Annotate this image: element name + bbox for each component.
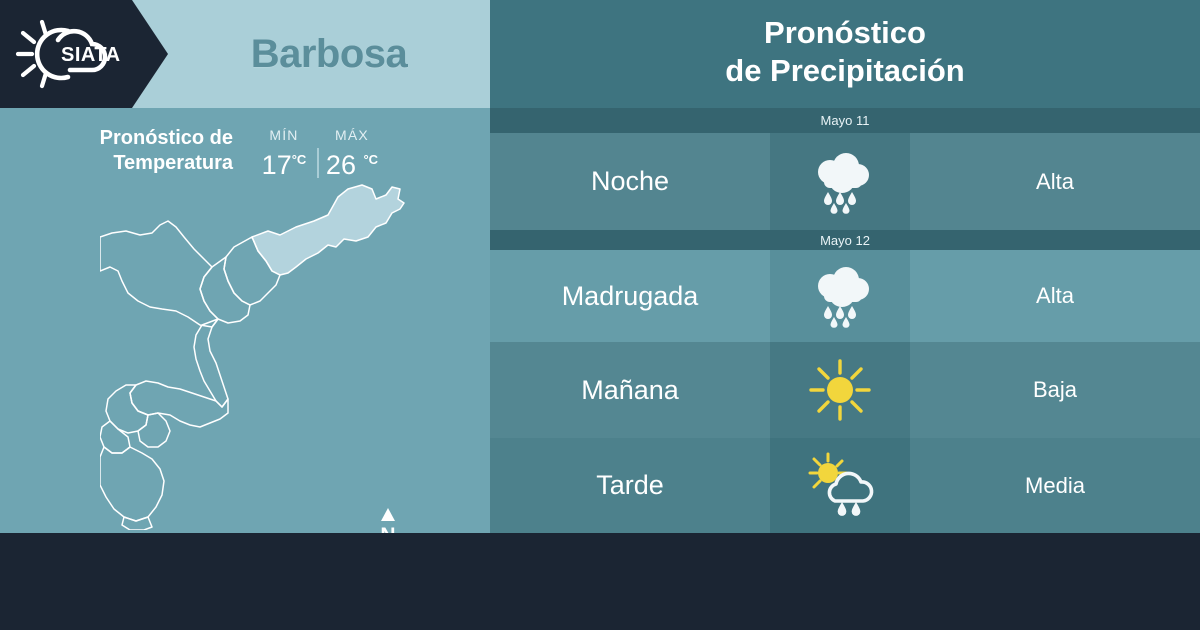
- rain-cloud-icon: [770, 133, 910, 230]
- date-band-mayo-11: Mayo 11: [490, 108, 1200, 133]
- forecast-level-label: Alta: [910, 133, 1200, 230]
- forecast-row-noche[interactable]: Noche Alta: [490, 133, 1200, 230]
- temperature-panel: SIATA Barbosa Pronóstico de Temperatura …: [0, 0, 490, 533]
- forecast-period-label: Noche: [490, 133, 770, 230]
- infographic-root: SIATA Barbosa Pronóstico de Temperatura …: [0, 0, 1200, 630]
- map-region-medellin: [194, 319, 228, 407]
- precipitation-panel: Pronóstico de Precipitación Mayo 11 Noch…: [490, 0, 1200, 533]
- temperature-min-unit: °C: [292, 152, 307, 167]
- temperature-min: MÍN 17°C: [251, 126, 317, 180]
- valle-de-aburra-map[interactable]: N: [100, 175, 440, 530]
- forecast-row-manana[interactable]: Mañana Baja: [490, 342, 1200, 438]
- page-title: Barbosa: [168, 0, 490, 108]
- precipitation-title-line1: Pronóstico: [490, 14, 1200, 52]
- siata-logo-badge[interactable]: SIATA: [0, 0, 168, 108]
- map-region-caldas-south: [122, 517, 152, 530]
- temperature-max-label: MÁX: [319, 126, 385, 145]
- rain-cloud-icon: [770, 250, 910, 342]
- forecast-period-label: Mañana: [490, 342, 770, 438]
- temperature-summary: Pronóstico de Temperatura MÍN 17°C MÁX 2…: [62, 126, 412, 182]
- forecast-level-label: Media: [910, 438, 1200, 533]
- forecast-row-tarde[interactable]: Tarde: [490, 438, 1200, 533]
- sun-icon: [770, 342, 910, 438]
- map-region-envigado: [130, 381, 228, 427]
- temperature-title: Pronóstico de Temperatura: [62, 126, 237, 176]
- precipitation-title: Pronóstico de Precipitación: [490, 14, 1200, 90]
- left-header: SIATA Barbosa: [0, 0, 490, 108]
- temperature-title-line1: Pronóstico de: [62, 126, 233, 151]
- map-region-bello: [100, 221, 218, 327]
- temperature-max: MÁX 26 °C: [319, 126, 385, 180]
- compass-arrow-icon: [377, 508, 399, 522]
- forecast-row-madrugada[interactable]: Madrugada Alta: [490, 250, 1200, 342]
- forecast-level-label: Baja: [910, 342, 1200, 438]
- map-region-caldas: [100, 447, 164, 521]
- temperature-title-line2: Temperatura: [62, 151, 233, 176]
- map-svg: [100, 175, 440, 530]
- forecast-period-label: Madrugada: [490, 250, 770, 342]
- temperature-min-label: MÍN: [251, 126, 317, 145]
- date-band-mayo-12: Mayo 12: [490, 230, 1200, 250]
- temperature-values: MÍN 17°C MÁX 26 °C: [251, 126, 385, 180]
- temperature-max-unit: °C: [363, 152, 378, 167]
- forecast-level-label: Alta: [910, 250, 1200, 342]
- sun-cloud-rain-icon: [770, 438, 910, 533]
- map-region-copacabana: [200, 257, 250, 323]
- forecast-period-label: Tarde: [490, 438, 770, 533]
- precipitation-title-line2: de Precipitación: [490, 52, 1200, 90]
- sun-cloud-icon: SIATA: [12, 14, 142, 94]
- siata-logo-text: SIATA: [61, 44, 121, 66]
- map-region-barbosa: [252, 185, 404, 275]
- map-region-sabaneta: [138, 413, 170, 447]
- map-region-itagui: [106, 385, 148, 433]
- footer: @siatamedellin www.siata.gov.co Con el a…: [0, 533, 1200, 630]
